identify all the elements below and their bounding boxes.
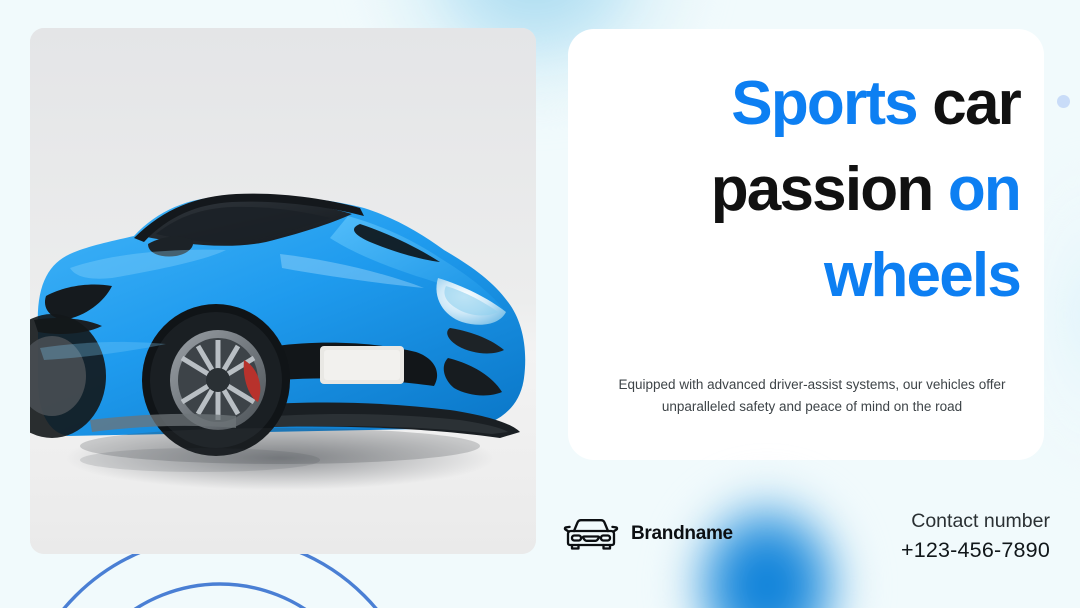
headline-line-2: passion on [592,147,1020,233]
body-line-1: Equipped with advanced driver-assist sys… [619,377,975,392]
poster-canvas: Sports car passion on wheels Equipped wi… [0,0,1080,608]
headline-word-sports: Sports [731,69,917,138]
body-paragraph: Equipped with advanced driver-assist sys… [612,374,1012,418]
brand-name: Brandname [631,523,733,545]
car-front-icon [563,514,619,554]
headline-word-car: car [932,69,1020,138]
headline-word-passion: passion [711,155,933,224]
brand-lockup: Brandname [563,514,733,554]
hero-photo-card [30,28,536,554]
headline-line-1: Sports car [592,61,1020,147]
contact-label: Contact number [901,507,1050,535]
headline-card: Sports car passion on wheels Equipped wi… [568,29,1044,460]
decorative-dot-edge [1057,95,1070,108]
sports-car-photo [30,28,536,554]
page-title: Sports car passion on wheels [592,61,1020,319]
headline-word-on: on [948,155,1020,224]
contact-block: Contact number +123-456-7890 [901,507,1050,565]
contact-number[interactable]: +123-456-7890 [901,535,1050,565]
headline-word-wheels: wheels [824,241,1020,310]
headline-line-3: wheels [592,233,1020,319]
